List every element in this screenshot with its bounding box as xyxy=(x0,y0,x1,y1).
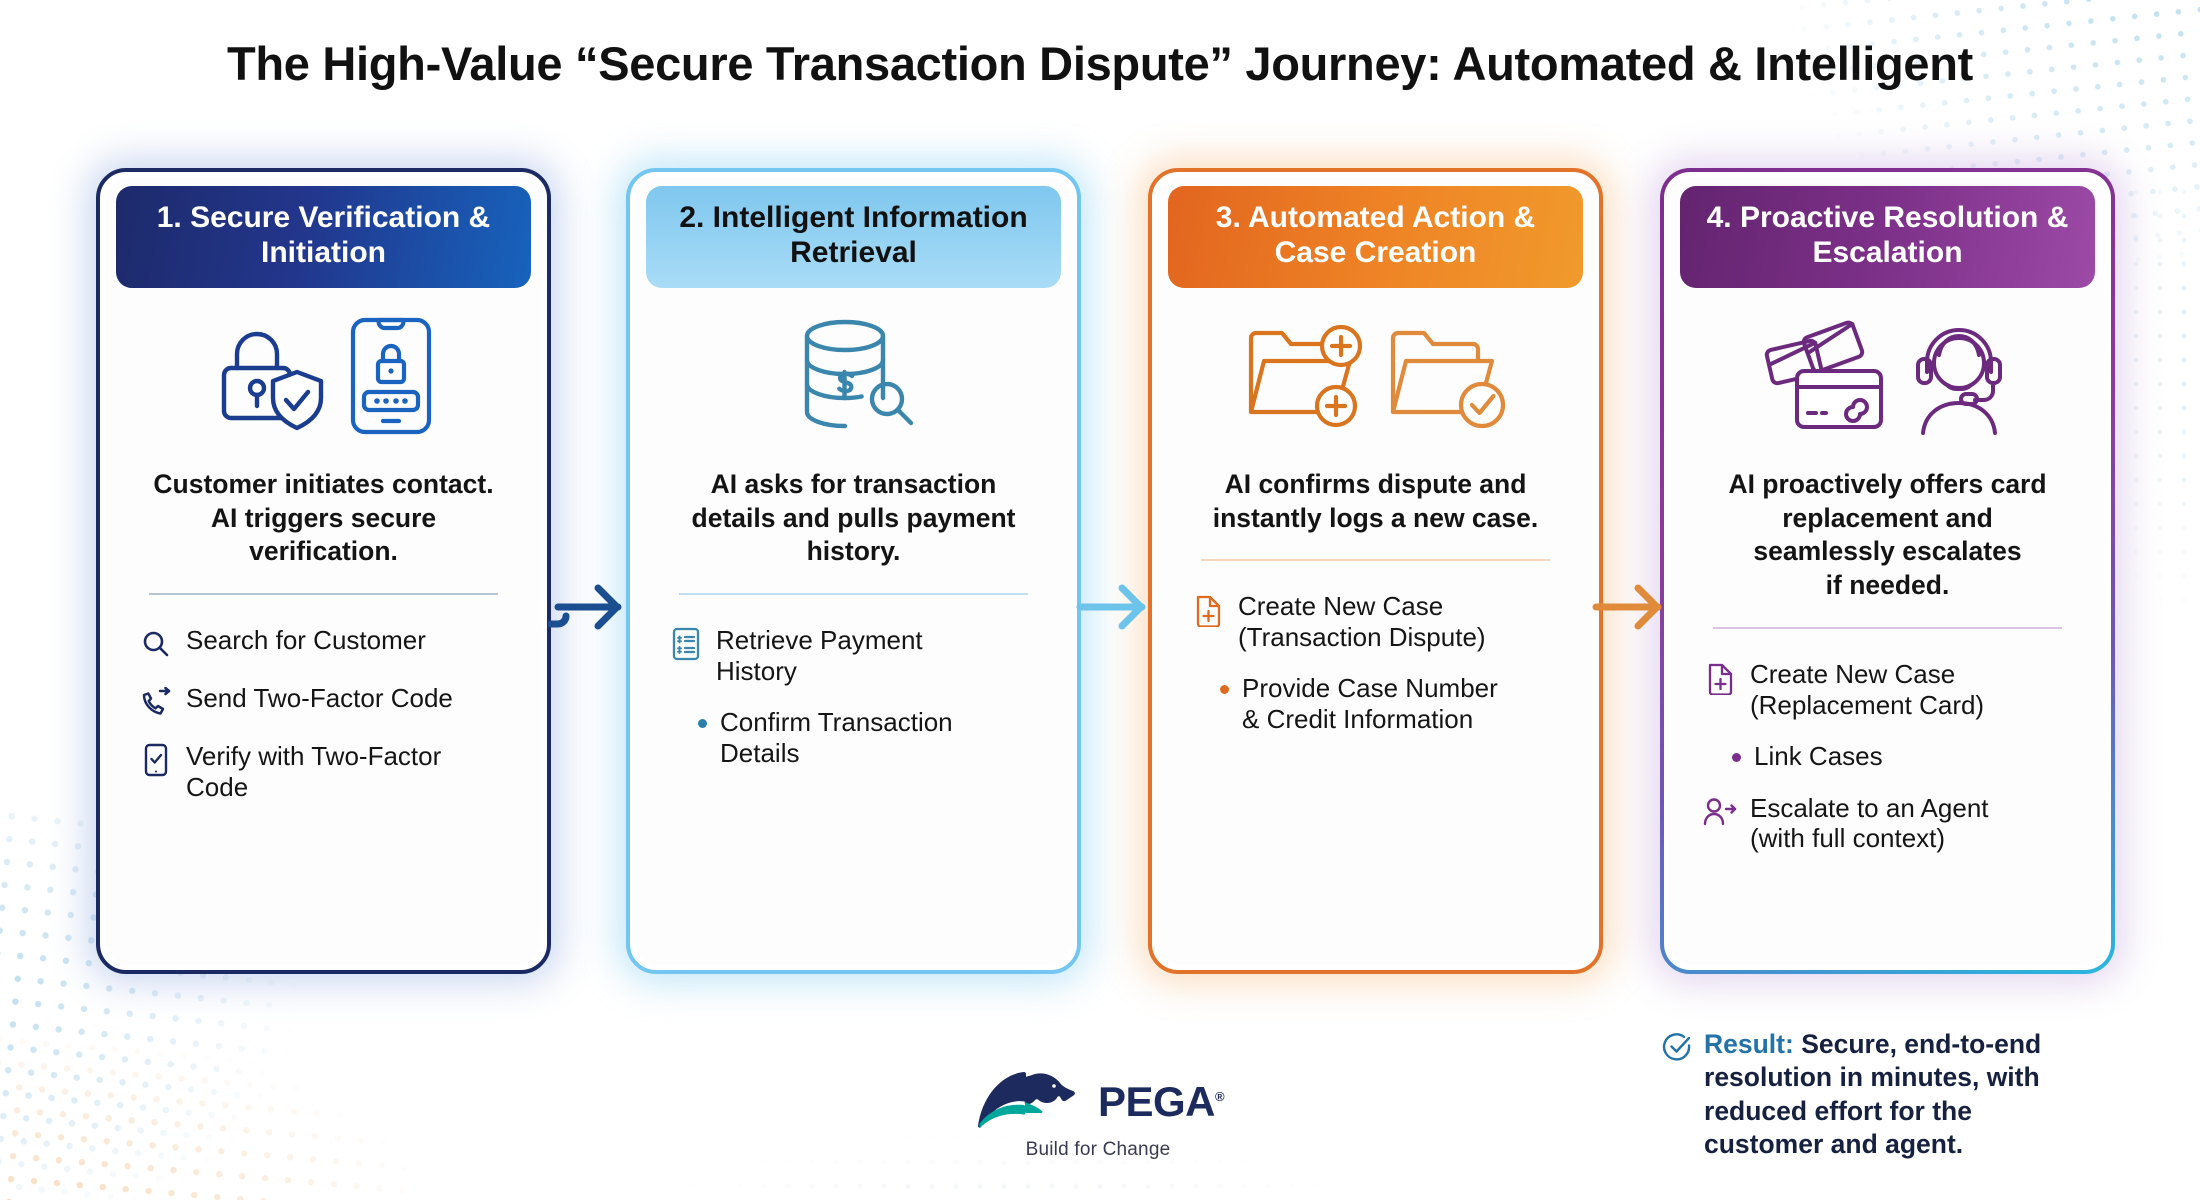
step-card-1-actions: Search for Customer Send Two-Factor Code xyxy=(105,595,542,802)
bullet-dot-icon xyxy=(1729,742,1743,772)
step-card-4-header: 4. Proactive Resolution & Escalation xyxy=(1680,186,2095,288)
step-card-4[interactable]: 4. Proactive Resolution & Escalation xyxy=(1660,168,2115,974)
step-card-1-header: 1. Secure Verification & Initiation xyxy=(116,186,531,288)
action-label: Create New Case (Replacement Card) xyxy=(1750,659,1984,720)
pega-wordmark: PEGA® xyxy=(1098,1078,1224,1126)
step-card-3-description: AI confirms dispute and instantly logs a… xyxy=(1188,468,1564,536)
action-label: Retrieve Payment History xyxy=(716,625,923,686)
action-label: Link Cases xyxy=(1754,741,1883,771)
step-card-4-description: AI proactively offers card replacement a… xyxy=(1700,468,2076,604)
action-verify-with-two-factor-code[interactable]: Verify with Two-Factor Code xyxy=(139,741,512,802)
step-card-2[interactable]: 2. Intelligent Information Retrieval xyxy=(626,168,1081,974)
step-card-3-body: 3. Automated Action & Case Creation xyxy=(1157,177,1594,965)
headset-agent-icon xyxy=(1903,315,2015,442)
step-card-4-actions: Create New Case (Replacement Card) Link … xyxy=(1669,629,2106,854)
pega-logo: PEGA® Build for Change xyxy=(948,1068,1248,1161)
pega-logo-row: PEGA® xyxy=(948,1068,1248,1135)
step-card-4-artwork xyxy=(1761,304,2015,454)
mobile-password-icon xyxy=(345,315,437,442)
result-callout: Result: Secure, end-to-end resolution in… xyxy=(1662,1028,2082,1162)
action-confirm-transaction-details[interactable]: Confirm Transaction Details xyxy=(669,707,1042,768)
step-card-3-actions: Create New Case (Transaction Dispute) Pr… xyxy=(1157,561,1594,734)
step-card-1-description: Customer initiates contact. AI triggers … xyxy=(136,468,512,570)
mobile-check-icon xyxy=(139,742,173,778)
pega-tagline: Build for Change xyxy=(948,1139,1248,1161)
user-arrow-icon xyxy=(1703,794,1737,830)
check-circle-icon xyxy=(1662,1032,1692,1067)
registered-mark: ® xyxy=(1215,1089,1224,1104)
arrow-step3-to-step4 xyxy=(1588,578,1668,641)
step-card-1[interactable]: 1. Secure Verification & Initiation xyxy=(96,168,551,974)
invoice-list-icon xyxy=(669,626,703,662)
folder-plus-icon xyxy=(1243,316,1371,441)
action-label: Send Two-Factor Code xyxy=(186,683,453,713)
credit-cards-icon xyxy=(1761,315,1889,442)
pega-horse-mark-icon xyxy=(972,1068,1088,1135)
action-label: Search for Customer xyxy=(186,625,426,655)
step-card-2-actions: Retrieve Payment History Confirm Transac… xyxy=(635,595,1072,768)
step-card-3-header: 3. Automated Action & Case Creation xyxy=(1168,186,1583,288)
bullet-dot-icon xyxy=(695,708,709,738)
padlock-shield-icon xyxy=(211,316,331,441)
action-label: Create New Case (Transaction Dispute) xyxy=(1238,591,1486,652)
action-create-new-case-transaction-dispute[interactable]: Create New Case (Transaction Dispute) xyxy=(1191,591,1564,652)
step-card-2-header: 2. Intelligent Information Retrieval xyxy=(646,186,1061,288)
file-plus-icon xyxy=(1191,592,1225,628)
step-card-3[interactable]: 3. Automated Action & Case Creation xyxy=(1148,168,1603,974)
action-label: Escalate to an Agent (with full context) xyxy=(1750,793,1989,854)
folder-check-icon xyxy=(1385,316,1509,441)
step-card-2-description: AI asks for transaction details and pull… xyxy=(666,468,1042,570)
journey-steps-rail: 1. Secure Verification & Initiation xyxy=(0,168,2200,978)
file-plus-icon xyxy=(1703,660,1737,696)
phone-forward-icon xyxy=(139,684,173,720)
step-card-1-artwork xyxy=(211,304,437,454)
action-label: Confirm Transaction Details xyxy=(720,707,953,768)
action-retrieve-payment-history[interactable]: Retrieve Payment History xyxy=(669,625,1042,686)
page-title: The High-Value “Secure Transaction Dispu… xyxy=(0,36,2200,91)
step-card-1-body: 1. Secure Verification & Initiation xyxy=(105,177,542,965)
step-card-4-body: 4. Proactive Resolution & Escalation xyxy=(1669,177,2106,965)
result-label: Result: xyxy=(1704,1029,1794,1059)
database-dollar-search-icon xyxy=(788,310,920,447)
result-text: Result: Secure, end-to-end resolution in… xyxy=(1704,1028,2082,1162)
search-icon xyxy=(139,626,173,662)
action-send-two-factor-code[interactable]: Send Two-Factor Code xyxy=(139,683,512,720)
bullet-dot-icon xyxy=(1217,674,1231,704)
step-card-3-artwork xyxy=(1243,304,1509,454)
arrow-step2-to-step3 xyxy=(1072,578,1152,641)
arrow-step1-to-step2 xyxy=(548,578,628,641)
action-escalate-to-an-agent[interactable]: Escalate to an Agent (with full context) xyxy=(1703,793,2076,854)
step-card-2-body: 2. Intelligent Information Retrieval xyxy=(635,177,1072,965)
action-link-cases[interactable]: Link Cases xyxy=(1703,741,2076,772)
action-label: Provide Case Number & Credit Information xyxy=(1242,673,1498,734)
action-label: Verify with Two-Factor Code xyxy=(186,741,441,802)
action-provide-case-number-and-credit-information[interactable]: Provide Case Number & Credit Information xyxy=(1191,673,1564,734)
action-create-new-case-replacement-card[interactable]: Create New Case (Replacement Card) xyxy=(1703,659,2076,720)
action-search-for-customer[interactable]: Search for Customer xyxy=(139,625,512,662)
step-card-2-artwork xyxy=(788,304,920,454)
